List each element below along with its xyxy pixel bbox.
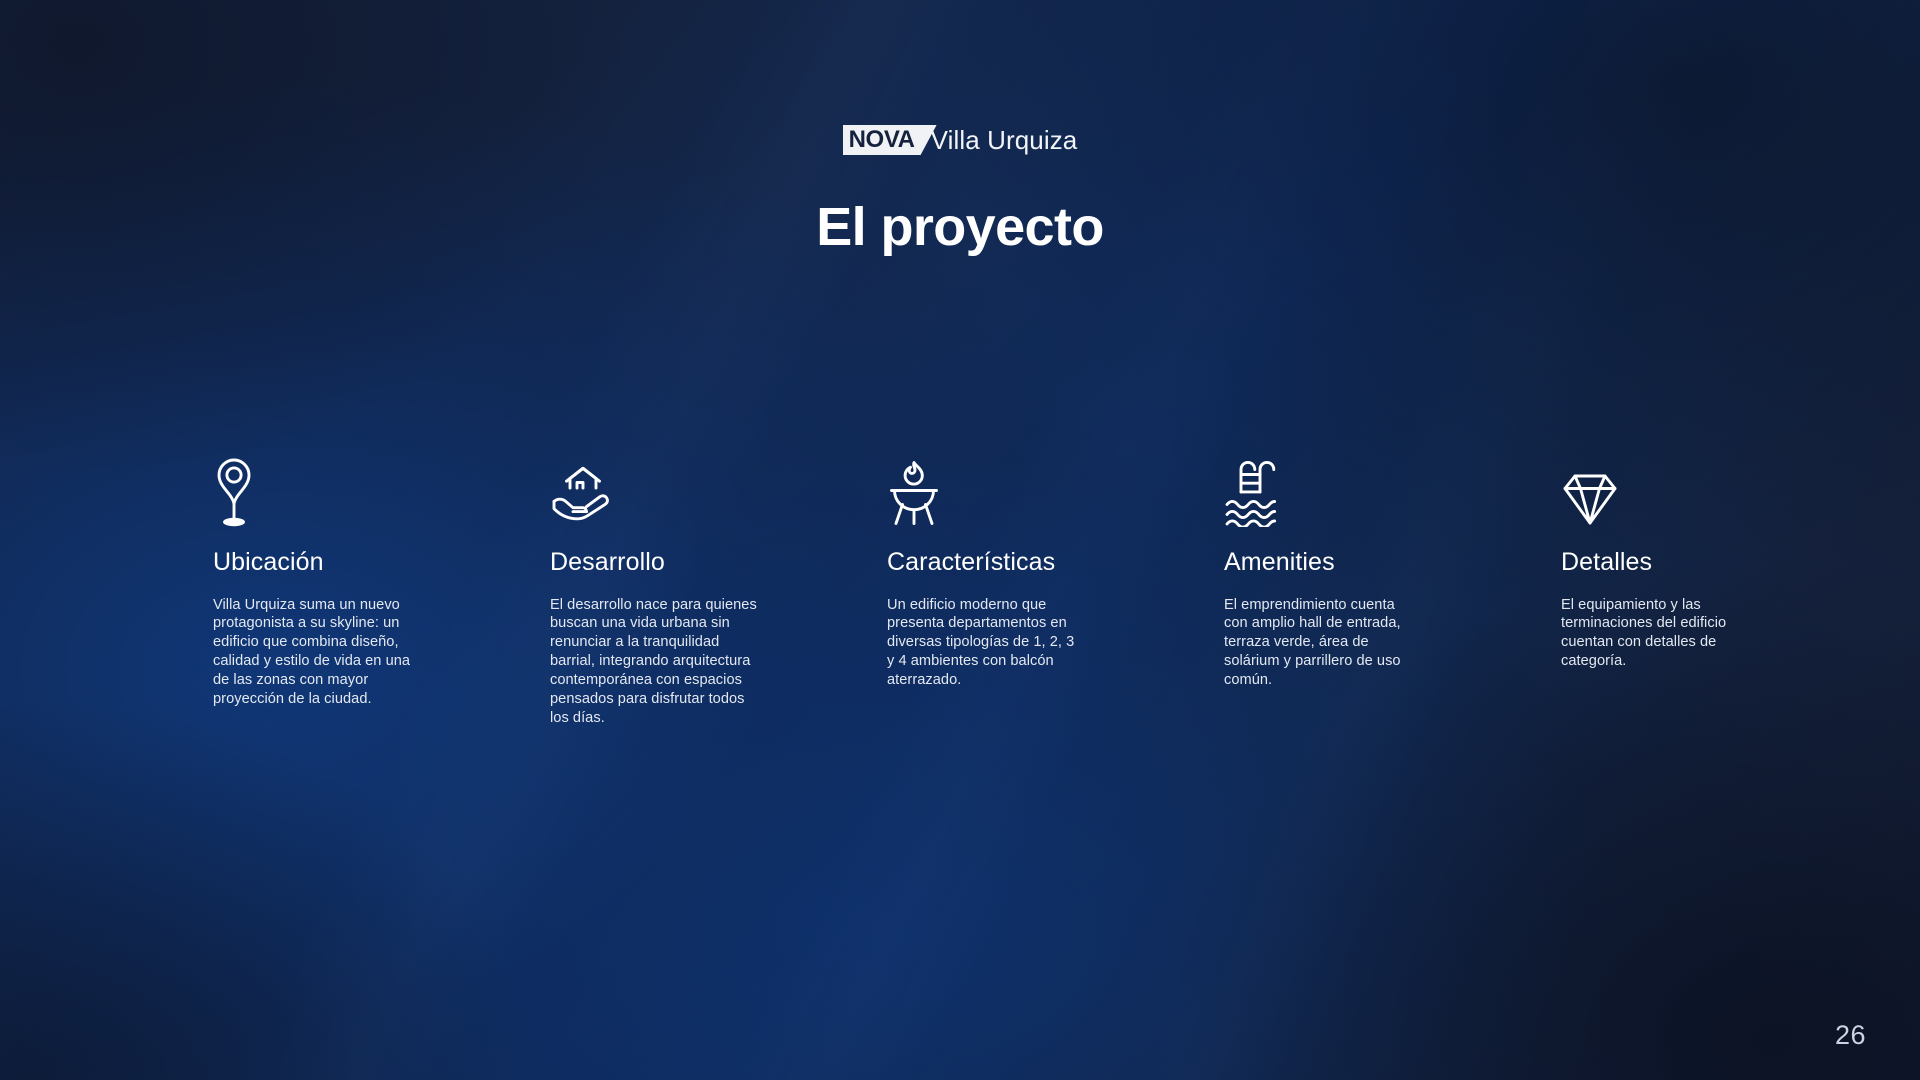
project-name-label: Villa Urquiza	[931, 127, 1078, 153]
feature-body: El desarrollo nace para quienes buscan u…	[550, 596, 764, 729]
house-in-hand-icon	[550, 455, 825, 527]
diamond-icon	[1561, 455, 1836, 527]
feature-columns: Ubicación Villa Urquiza suma un nuevo pr…	[213, 455, 1813, 728]
feature-body: El equipamiento y las terminaciones del …	[1561, 596, 1741, 672]
feature-title: Características	[887, 549, 1162, 577]
feature-column-detalles: Detalles El equipamiento y las terminaci…	[1561, 455, 1836, 728]
swimming-pool-icon	[1224, 455, 1499, 527]
feature-body: Villa Urquiza suma un nuevo protagonista…	[213, 596, 418, 710]
location-pin-icon	[213, 455, 488, 527]
feature-column-desarrollo: Desarrollo El desarrollo nace para quien…	[550, 455, 825, 728]
feature-column-caracteristicas: Características Un edificio moderno que …	[887, 455, 1162, 728]
feature-column-amenities: Amenities El emprendimiento cuenta con a…	[1224, 455, 1499, 728]
feature-title: Ubicación	[213, 549, 488, 577]
brand-lockup: NOVA Villa Urquiza	[0, 123, 1920, 157]
feature-title: Detalles	[1561, 549, 1836, 577]
page-title: El proyecto	[0, 196, 1920, 258]
feature-column-ubicacion: Ubicación Villa Urquiza suma un nuevo pr…	[213, 455, 488, 728]
feature-title: Desarrollo	[550, 549, 825, 577]
nova-logo-text: NOVA	[849, 128, 915, 152]
nova-logo-badge: NOVA	[843, 125, 937, 155]
page-number: 26	[1835, 1020, 1866, 1051]
bbq-grill-icon	[887, 455, 1162, 527]
feature-body: Un edificio moderno que presenta departa…	[887, 596, 1075, 691]
slide-content: NOVA Villa Urquiza El proyecto Ubicación…	[0, 0, 1920, 1080]
feature-title: Amenities	[1224, 549, 1499, 577]
feature-body: El emprendimiento cuenta con amplio hall…	[1224, 596, 1410, 691]
